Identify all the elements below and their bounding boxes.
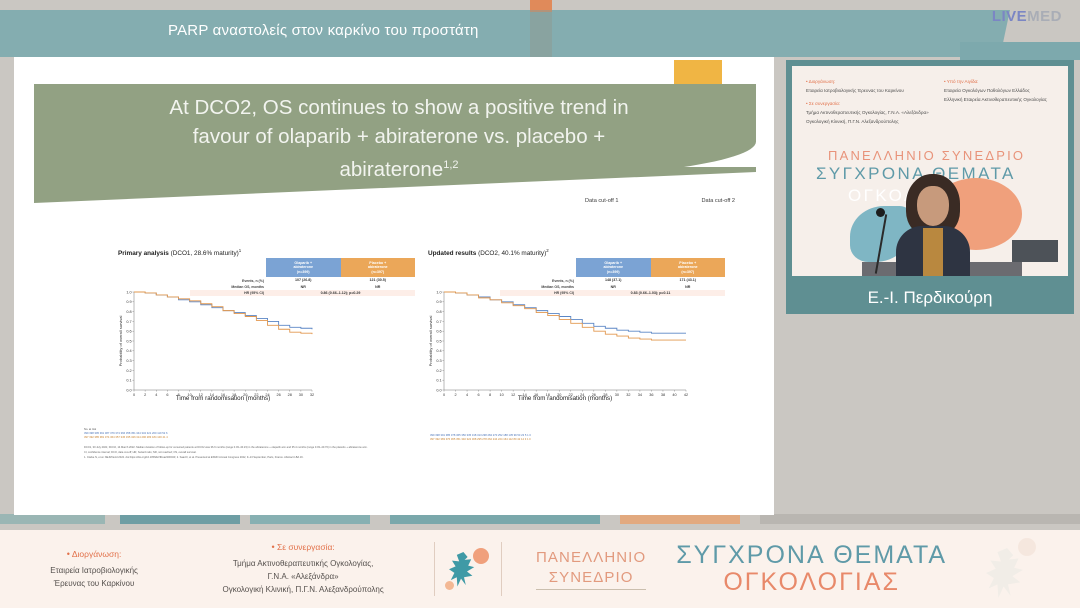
col1-line2: abiraterone — [603, 265, 623, 269]
banner-coop-line-1: Τμήμα Ακτινοθεραπευτικής Ογκολογίας, — [222, 557, 383, 570]
panel-heading-primary-rest: (DCO1, 28.6% maturity) — [169, 250, 239, 257]
svg-text:26: 26 — [277, 393, 281, 397]
col2-line2: abiraterone — [368, 265, 388, 269]
video-frame: • Διοργάνωση: Εταιρεία Ιατροβιολογικής Έ… — [792, 66, 1068, 276]
panel-heading-primary-bold: Primary analysis — [118, 250, 169, 257]
col1-line2: abiraterone — [293, 265, 313, 269]
svg-text:Time from randomisation (month: Time from randomisation (months) — [176, 395, 270, 402]
km-chart-updated: 0.00.10.20.30.40.50.60.70.80.91.00246810… — [428, 288, 690, 416]
livemed-logo: LIVEMED — [992, 8, 1062, 25]
table-header-row: Olaparib + abiraterone (n=399) Placebo +… — [500, 258, 725, 277]
col-header-olaparib: Olaparib + abiraterone (n=399) — [576, 258, 651, 277]
risk-table-updated: 399 398 391 385 378 365 350 335 318 313 … — [430, 434, 531, 442]
panel-heading-updated-bold: Updated results — [428, 250, 476, 257]
svg-text:32: 32 — [626, 393, 630, 397]
speaker-name: Ε.-Ι. Περδικούρη — [868, 288, 993, 308]
table-header-row: Olaparib + abiraterone (n=399) Placebo +… — [190, 258, 415, 277]
video-under-head: • Υπό την Αιγίδα: — [944, 78, 1047, 87]
svg-text:0.6: 0.6 — [126, 330, 131, 334]
svg-text:0.5: 0.5 — [436, 339, 441, 343]
banner-org-body: Εταιρεία Ιατροβιολογικής Έρευνας του Καρ… — [50, 564, 138, 590]
panel-heading-primary-sup: 1 — [239, 248, 241, 253]
svg-text:0.3: 0.3 — [126, 359, 131, 363]
banner-org-line-1: Εταιρεία Ιατροβιολογικής — [50, 564, 138, 577]
risk-row-placebo: 397 392 383 376 365 351 340 322 308 295 … — [430, 438, 531, 442]
data-cutoff-labels: Data cut-off 1 Data cut-off 2 — [585, 198, 735, 204]
svg-text:36: 36 — [649, 393, 653, 397]
banner-main-line-1: ΣΥΓΧΡΟΝΑ ΘΕΜΑΤΑ — [676, 542, 947, 569]
speaker-shirt — [923, 228, 943, 276]
bullet-icon: • — [67, 549, 70, 559]
speaker-face — [917, 186, 949, 226]
svg-text:0.0: 0.0 — [436, 388, 441, 392]
watermark-sprig — [986, 548, 1030, 600]
svg-text:0.2: 0.2 — [436, 369, 441, 373]
banner-credits: • Διοργάνωση: Εταιρεία Ιατροβιολογικής Έ… — [0, 530, 434, 608]
video-title-congress: ΠΑΝΕΛΛΗΝΙΟ ΣΥΝΕΔΡΙΟ — [828, 148, 1025, 163]
svg-text:0.8: 0.8 — [126, 310, 131, 314]
svg-text:0.7: 0.7 — [126, 320, 131, 324]
svg-text:30: 30 — [615, 393, 619, 397]
leaf-circle-large — [473, 548, 489, 564]
banner-org-line-2: Έρευνας του Καρκίνου — [50, 577, 138, 590]
svg-text:0: 0 — [133, 393, 135, 397]
banner-coop-line-2: Γ.Ν.Α. «Αλεξάνδρα» — [222, 570, 383, 583]
col-header-placebo: Placebo + abiraterone (n=397) — [341, 258, 416, 277]
banner-congress-line-1: ΠΑΝΕΛΛΗΝΙΟ — [536, 548, 646, 568]
speaker-name-bar: Ε.-Ι. Περδικούρη — [786, 282, 1074, 314]
km-plot-updated-svg: 0.00.10.20.30.40.50.60.70.80.91.00246810… — [428, 288, 690, 416]
video-coop-body-1: Τμήμα Ακτινοθεραπευτικής Ογκολογίας, Γ.Ν… — [806, 109, 929, 118]
svg-text:32: 32 — [310, 393, 314, 397]
svg-text:0.1: 0.1 — [126, 379, 131, 383]
svg-text:42: 42 — [684, 393, 688, 397]
svg-text:0.0: 0.0 — [126, 388, 131, 392]
laptop — [1012, 240, 1058, 262]
deco-bar-5 — [620, 514, 740, 524]
header-gray-strip — [530, 10, 552, 58]
slide-title-line-3: abiraterone — [339, 158, 443, 181]
svg-text:8: 8 — [489, 393, 491, 397]
screen: PARP αναστολείς στον καρκίνο του προστάτ… — [0, 0, 1080, 608]
svg-text:0.8: 0.8 — [436, 310, 441, 314]
deco-bar-1 — [0, 514, 105, 524]
svg-text:0.3: 0.3 — [436, 359, 441, 363]
svg-text:34: 34 — [638, 393, 642, 397]
data-cutoff-2-label: Data cut-off 2 — [702, 198, 735, 204]
video-org-body: Εταιρεία Ιατροβιολογικής Έρευνας του Καρ… — [806, 87, 929, 96]
banner-coop-body: Τμήμα Ακτινοθεραπευτικής Ογκολογίας, Γ.Ν… — [222, 557, 383, 596]
col-header-olaparib: Olaparib + abiraterone (n=399) — [266, 258, 341, 277]
bullet-icon: • — [271, 542, 274, 552]
svg-text:Probability of overall surviva: Probability of overall survival — [428, 316, 433, 367]
svg-text:Probability of overall surviva: Probability of overall survival — [118, 316, 123, 367]
banner-org-column: • Διοργάνωση: Εταιρεία Ιατροβιολογικής Έ… — [50, 549, 138, 590]
deco-bar-2 — [120, 514, 240, 524]
svg-text:10: 10 — [500, 393, 504, 397]
svg-text:38: 38 — [661, 393, 665, 397]
svg-text:1.0: 1.0 — [436, 290, 441, 294]
header-teal-band — [0, 10, 1010, 57]
svg-text:Time from randomisation (month: Time from randomisation (months) — [518, 395, 612, 402]
video-coop-head: • Σε συνεργασία: — [806, 100, 929, 109]
svg-text:0.2: 0.2 — [126, 369, 131, 373]
watermark-circle — [1018, 538, 1036, 556]
panel-heading-updated-rest: (DCO2, 40.1% maturity) — [476, 250, 546, 257]
panel-heading-updated: Updated results (DCO2, 40.1% maturity)2 — [428, 248, 728, 257]
svg-text:0.7: 0.7 — [436, 320, 441, 324]
km-chart-primary: 0.00.10.20.30.40.50.60.70.80.91.00246810… — [118, 288, 316, 416]
panel-heading-updated-sup: 2 — [546, 248, 548, 253]
col1-line3: (n=399) — [297, 270, 310, 274]
banner-congress-line-2: ΣΥΝΕΔΡΙΟ — [536, 568, 646, 590]
slide-footnotes: DCO1, 30 July 2021; DCO2, 14 March 2022.… — [84, 446, 744, 461]
svg-text:0.9: 0.9 — [436, 300, 441, 304]
svg-text:0: 0 — [443, 393, 445, 397]
svg-text:0.4: 0.4 — [126, 349, 131, 353]
svg-text:6: 6 — [166, 393, 168, 397]
col2-line1: Placebo + — [369, 261, 386, 265]
banner-main-line-2: ΟΓΚΟΛΟΓΙΑΣ — [676, 569, 947, 596]
svg-text:6: 6 — [478, 393, 480, 397]
km-plot-primary-svg: 0.00.10.20.30.40.50.60.70.80.91.00246810… — [118, 288, 316, 416]
slide-title-line-1: At DCO2, OS continues to show a positive… — [169, 96, 628, 119]
banner-watermark-leaf-icon — [980, 534, 1050, 604]
col2-line3: (n=397) — [681, 270, 694, 274]
col2-line1: Placebo + — [679, 261, 696, 265]
col1-line1: Olaparib + — [294, 261, 312, 265]
slide-title-superscript: 1,2 — [443, 159, 458, 171]
col2-line3: (n=397) — [371, 270, 384, 274]
svg-text:0.9: 0.9 — [126, 300, 131, 304]
svg-text:0.1: 0.1 — [436, 379, 441, 383]
header-right-teal-tab — [960, 42, 1080, 60]
video-auspices-block: • Υπό την Αιγίδα: Εταιρεία Ογκολόγων Παθ… — [944, 78, 1047, 105]
bottom-banner: • Διοργάνωση: Εταιρεία Ιατροβιολογικής Έ… — [0, 530, 1080, 608]
speaker-figure — [896, 174, 970, 276]
col-header-placebo: Placebo + abiraterone (n=397) — [651, 258, 726, 277]
svg-text:40: 40 — [672, 393, 676, 397]
panel-heading-primary: Primary analysis (DCO1, 28.6% maturity)1 — [118, 248, 418, 257]
svg-text:30: 30 — [299, 393, 303, 397]
banner-main-title: ΣΥΓΧΡΟΝΑ ΘΕΜΑΤΑ ΟΓΚΟΛΟΓΙΑΣ — [676, 542, 947, 596]
svg-text:2: 2 — [454, 393, 456, 397]
svg-text:2: 2 — [144, 393, 146, 397]
svg-text:0.6: 0.6 — [436, 330, 441, 334]
banner-org-head-text: Διοργάνωση: — [72, 549, 122, 559]
svg-text:4: 4 — [466, 393, 468, 397]
logo-live-text: LIVE — [992, 8, 1027, 25]
col1-line1: Olaparib + — [604, 261, 622, 265]
logo-med-text: MED — [1027, 8, 1062, 25]
banner-coop-line-3: Ογκολογική Κλινική, Π.Γ.Ν. Αλεξανδρούπολ… — [222, 583, 383, 596]
col2-line2: abiraterone — [678, 265, 698, 269]
svg-text:1.0: 1.0 — [126, 290, 131, 294]
svg-text:0.4: 0.4 — [436, 349, 441, 353]
footnote-3: 1. Clarke N, et al. NEJM Evid 2022. doi:… — [84, 456, 744, 461]
session-title: PARP αναστολείς στον καρκίνο του προστάτ… — [168, 22, 479, 39]
banner-congress-text: ΠΑΝΕΛΛΗΝΙΟ ΣΥΝΕΔΡΙΟ — [536, 548, 646, 590]
speaker-video[interactable]: • Διοργάνωση: Εταιρεία Ιατροβιολογικής Έ… — [786, 60, 1074, 282]
svg-text:28: 28 — [288, 393, 292, 397]
svg-text:12: 12 — [511, 393, 515, 397]
banner-congress-logo: ΠΑΝΕΛΛΗΝΙΟ ΣΥΝΕΔΡΙΟ ΣΥΓΧΡΟΝΑ ΘΕΜΑΤΑ ΟΓΚΟ… — [502, 530, 1080, 608]
leaf-icon — [445, 546, 491, 592]
svg-text:4: 4 — [155, 393, 157, 397]
col1-line3: (n=399) — [607, 270, 620, 274]
data-cutoff-1-label: Data cut-off 1 — [585, 198, 618, 204]
video-org-head: • Διοργάνωση: — [806, 78, 929, 87]
risk-row-placebo: 397 392 385 381 374 364 357 345 335 326 … — [84, 436, 168, 440]
banner-leaf-logo — [435, 530, 501, 608]
banner-coop-head-text: Σε συνεργασία: — [277, 542, 335, 552]
deco-bar-4 — [390, 514, 600, 524]
video-org-block: • Διοργάνωση: Εταιρεία Ιατροβιολογικής Έ… — [806, 78, 929, 127]
banner-org-head: • Διοργάνωση: — [50, 549, 138, 559]
slide-title-line-2: favour of olaparib + abiraterone vs. pla… — [193, 125, 606, 148]
leaf-circle-small — [445, 581, 454, 590]
banner-coop-column: • Σε συνεργασία: Τμήμα Ακτινοθεραπευτική… — [222, 542, 383, 596]
microphone-head-icon — [876, 208, 885, 217]
deco-bar-3 — [250, 514, 370, 524]
video-coop-body-2: Ογκολογική Κλινική, Π.Γ.Ν. Αλεξανδρούπολ… — [806, 118, 929, 127]
banner-coop-head: • Σε συνεργασία: — [222, 542, 383, 552]
video-under-body-1: Εταιρεία Ογκολόγων Παθολόγων Ελλάδος — [944, 87, 1047, 96]
video-under-body-2: Ελληνική Εταιρεία Ακτινοθεραπευτικής Ογκ… — [944, 96, 1047, 105]
svg-text:0.5: 0.5 — [126, 339, 131, 343]
risk-table-primary: No. at risk 399 398 395 391 387 379 374 … — [84, 428, 168, 440]
deco-bar-6 — [760, 514, 1080, 524]
slide-title: At DCO2, OS continues to show a positive… — [54, 93, 744, 184]
